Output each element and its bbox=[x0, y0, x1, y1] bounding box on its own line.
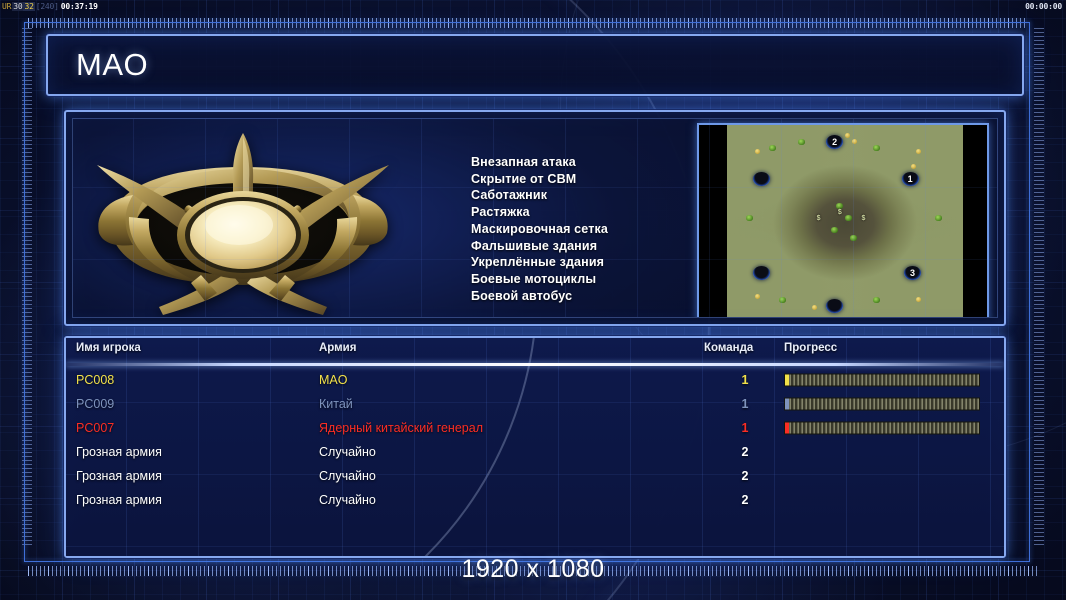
debug-value-1: 30 bbox=[12, 2, 23, 11]
top-status-bar: UR3032[240]00:37:19 00:00:00 bbox=[0, 0, 1066, 13]
player-table-header: Имя игрока Армия Команда Прогресс bbox=[66, 342, 1004, 364]
ability-list: Внезапная атака Скрытие от СВМ Саботажни… bbox=[471, 154, 741, 304]
ability-item: Растяжка bbox=[471, 204, 741, 221]
mao-emblem-icon bbox=[93, 125, 393, 318]
table-row[interactable]: Грозная армияСлучайно2 bbox=[66, 440, 1004, 464]
player-team-cell: 2 bbox=[731, 469, 759, 483]
player-team-cell: 1 bbox=[731, 397, 759, 411]
header-divider bbox=[66, 363, 1004, 366]
player-progress-cell bbox=[784, 374, 980, 387]
progress-bar bbox=[784, 398, 980, 411]
player-team-cell: 2 bbox=[731, 445, 759, 459]
table-row[interactable]: PC007Ядерный китайский генерал1 bbox=[66, 416, 1004, 440]
ability-item: Боевой автобус bbox=[471, 288, 741, 305]
debug-tag: UR bbox=[1, 2, 12, 11]
progress-bar-tip bbox=[785, 399, 789, 410]
frame-line-right bbox=[1029, 22, 1030, 562]
player-progress-cell bbox=[784, 398, 980, 411]
progress-bar-tip bbox=[785, 375, 789, 386]
ability-item: Саботажник bbox=[471, 187, 741, 204]
player-name-cell: Грозная армия bbox=[76, 469, 162, 483]
map-preview-image: $ $ $ 2 1 3 bbox=[727, 125, 963, 318]
player-name-cell: PC008 bbox=[76, 373, 114, 387]
ability-item: Скрытие от СВМ bbox=[471, 171, 741, 188]
table-row[interactable]: Грозная армияСлучайно2 bbox=[66, 488, 1004, 512]
frame-line-top bbox=[24, 22, 1030, 23]
player-army-cell: Случайно bbox=[319, 445, 376, 459]
table-row[interactable]: PC008MAO1 bbox=[66, 368, 1004, 392]
ability-item: Укреплённые здания bbox=[471, 254, 741, 271]
resolution-label: 1920 x 1080 bbox=[0, 555, 1066, 584]
page-title: MAO bbox=[76, 47, 148, 83]
progress-bar-track bbox=[785, 375, 979, 386]
game-lobby-screen: UR3032[240]00:37:19 00:00:00 MAO bbox=[0, 0, 1066, 600]
player-name-cell: Грозная армия bbox=[76, 493, 162, 507]
general-info-inner: Внезапная атака Скрытие от СВМ Саботажни… bbox=[72, 118, 998, 318]
player-name-cell: Грозная армия bbox=[76, 445, 162, 459]
player-team-cell: 1 bbox=[731, 373, 759, 387]
player-table-panel: Имя игрока Армия Команда Прогресс PC008M… bbox=[64, 336, 1006, 558]
progress-bar-track bbox=[785, 423, 979, 434]
debug-value-2: 32 bbox=[23, 2, 34, 11]
column-header-name: Имя игрока bbox=[76, 342, 141, 354]
player-team-cell: 2 bbox=[731, 493, 759, 507]
progress-bar-track bbox=[785, 399, 979, 410]
column-header-team: Команда bbox=[704, 342, 753, 354]
ability-item: Внезапная атака bbox=[471, 154, 741, 171]
debug-stats: UR3032[240]00:37:19 bbox=[1, 0, 99, 13]
player-rows: PC008MAO1PC009Китай1PC007Ядерный китайск… bbox=[66, 368, 1004, 512]
player-team-cell: 1 bbox=[731, 421, 759, 435]
map-start-position: 3 bbox=[904, 266, 921, 280]
session-clock: 00:37:19 bbox=[60, 2, 99, 11]
column-header-progress: Прогресс bbox=[784, 342, 837, 354]
ability-item: Боевые мотоциклы bbox=[471, 271, 741, 288]
player-army-cell: Случайно bbox=[319, 493, 376, 507]
progress-bar-tip bbox=[785, 423, 789, 434]
player-table-inner: Имя игрока Армия Команда Прогресс PC008M… bbox=[66, 338, 1004, 556]
table-row[interactable]: Грозная армияСлучайно2 bbox=[66, 464, 1004, 488]
player-army-cell: Китай bbox=[319, 397, 353, 411]
player-progress-cell bbox=[784, 422, 980, 435]
countdown-clock: 00:00:00 bbox=[1025, 0, 1062, 13]
ability-item: Фальшивые здания bbox=[471, 238, 741, 255]
general-info-panel: Внезапная атака Скрытие от СВМ Саботажни… bbox=[64, 110, 1006, 326]
ability-item: Маскировочная сетка bbox=[471, 221, 741, 238]
progress-bar bbox=[784, 422, 980, 435]
debug-bracket: [240] bbox=[35, 2, 60, 11]
map-start-position: 2 bbox=[826, 135, 843, 149]
map-start-position: 1 bbox=[902, 172, 919, 186]
frame-line-left bbox=[24, 22, 25, 562]
player-army-cell: Случайно bbox=[319, 469, 376, 483]
player-name-cell: PC009 bbox=[76, 397, 114, 411]
map-start-position bbox=[753, 172, 770, 186]
progress-bar bbox=[784, 374, 980, 387]
table-row[interactable]: PC009Китай1 bbox=[66, 392, 1004, 416]
player-name-cell: PC007 bbox=[76, 421, 114, 435]
title-panel: MAO bbox=[46, 34, 1024, 96]
player-army-cell: Ядерный китайский генерал bbox=[319, 421, 483, 435]
player-army-cell: MAO bbox=[319, 373, 347, 387]
map-start-position bbox=[826, 299, 843, 313]
map-start-position bbox=[753, 266, 770, 280]
column-header-army: Армия bbox=[319, 342, 356, 354]
